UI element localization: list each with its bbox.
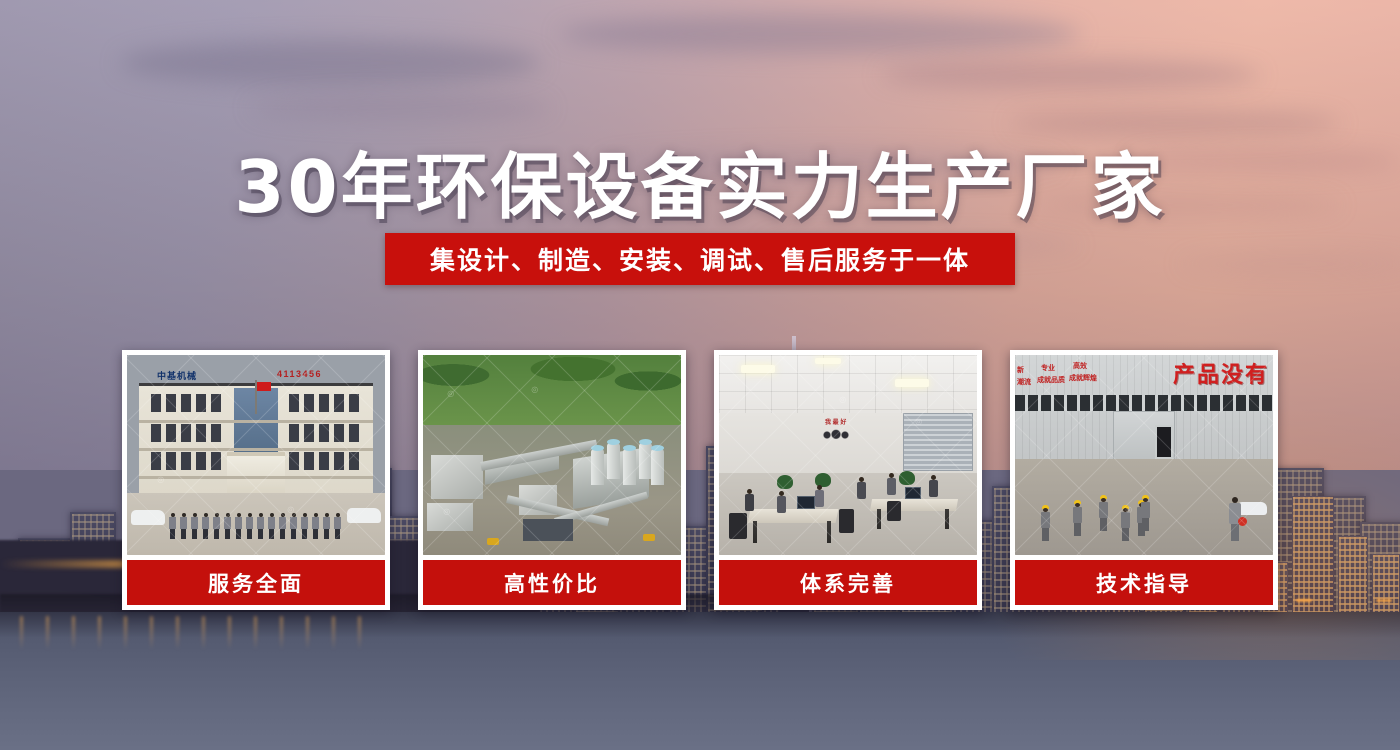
staff-member <box>246 513 253 539</box>
wall-decal-text: 我 最 好 <box>825 417 846 426</box>
building-window <box>319 452 329 470</box>
supervisor <box>1229 497 1241 541</box>
building-entrance <box>227 452 285 496</box>
ceiling-light <box>741 365 775 373</box>
office-employee <box>745 489 754 511</box>
card-photo-worker-briefing: 产品没有 新专业高效潮流成就品质成就辉煌 ◎ <box>1015 355 1273 555</box>
building-window <box>319 424 329 442</box>
building-window <box>289 394 299 412</box>
factory-worker <box>1099 495 1108 531</box>
building-window <box>151 394 161 412</box>
office-employee <box>887 473 896 495</box>
building-window <box>349 394 359 412</box>
factory-sign-small: 潮流 <box>1017 377 1031 387</box>
feature-card[interactable]: 产品没有 新专业高效潮流成就品质成就辉煌 ◎ 技术指导 <box>1010 350 1278 610</box>
shed <box>523 519 573 541</box>
building-window <box>196 394 206 412</box>
monitor <box>905 487 921 499</box>
feature-card-list: 中基机械 4113456 ◎ ◎ 服务全面 ◎ ◎ ◎ <box>122 350 1278 610</box>
card-photo-headquarters: 中基机械 4113456 ◎ ◎ <box>127 355 385 555</box>
building-window <box>151 424 161 442</box>
factory-sign-small: 高效 <box>1073 361 1087 371</box>
silo <box>623 449 636 485</box>
building-window <box>181 394 191 412</box>
building-window <box>211 452 221 470</box>
staff-member <box>202 513 209 539</box>
staff-member <box>290 513 297 539</box>
parked-car <box>347 508 381 523</box>
card-caption: 技术指导 <box>1015 560 1273 605</box>
factory-worker <box>1041 505 1050 541</box>
building-window <box>334 452 344 470</box>
factory-strip-windows <box>1015 395 1273 411</box>
building-window <box>304 452 314 470</box>
building-window <box>319 394 329 412</box>
feature-card[interactable]: 中基机械 4113456 ◎ ◎ 服务全面 <box>122 350 390 610</box>
feature-card[interactable]: 我 最 好 ◎ ◎ 体系完善 <box>714 350 982 610</box>
staff-member <box>180 513 187 539</box>
factory-sign-small: 专业 <box>1041 363 1055 373</box>
staff-member <box>323 513 330 539</box>
factory-sign-small: 新 <box>1017 365 1024 375</box>
building-window <box>151 452 161 470</box>
desk-leg <box>945 509 949 529</box>
building-window <box>181 452 191 470</box>
staff-member <box>312 513 319 539</box>
green-fields <box>423 355 681 433</box>
staff-member <box>257 513 264 539</box>
plant-building <box>431 455 483 499</box>
staff-member <box>235 513 242 539</box>
floor-divider <box>139 448 373 451</box>
desk-leg <box>877 509 881 529</box>
staff-member <box>279 513 286 539</box>
window-blinds <box>903 413 973 471</box>
office-ceiling <box>719 355 977 413</box>
excavator <box>643 534 655 541</box>
plant-building <box>427 503 473 531</box>
subtitle-text: 集设计、制造、安装、调试、售后服务于一体 <box>430 241 970 277</box>
front-plaza <box>127 493 385 555</box>
factory-worker <box>1141 495 1150 531</box>
silo <box>651 449 664 485</box>
monitor <box>797 496 815 509</box>
factory-sign-small: 成就品质 <box>1037 375 1065 385</box>
feature-card[interactable]: ◎ ◎ ◎ 高性价比 <box>418 350 686 610</box>
card-photo-plant-aerial: ◎ ◎ ◎ <box>423 355 681 555</box>
silo <box>591 449 604 485</box>
office-chair <box>887 501 901 521</box>
office-employee <box>929 475 938 497</box>
building-window <box>349 424 359 442</box>
building-window <box>289 452 299 470</box>
office-employee <box>815 485 824 507</box>
building-window <box>166 394 176 412</box>
office-employee <box>777 491 786 513</box>
building-window <box>166 452 176 470</box>
desk-leg <box>753 521 757 543</box>
desk-surface <box>748 509 839 523</box>
building-window <box>211 394 221 412</box>
staff-member <box>334 513 341 539</box>
office-chair <box>839 509 854 533</box>
office-plant <box>777 475 793 489</box>
building-window <box>289 424 299 442</box>
factory-worker <box>1073 500 1082 536</box>
factory-door <box>1155 425 1173 459</box>
staff-member <box>224 513 231 539</box>
staff-member <box>169 513 176 539</box>
building-window <box>196 452 206 470</box>
floor-divider <box>139 420 373 423</box>
building-window <box>304 424 314 442</box>
building-window <box>349 452 359 470</box>
ceiling-light <box>815 358 841 364</box>
building-window <box>196 424 206 442</box>
staff-member <box>268 513 275 539</box>
building-window <box>181 424 191 442</box>
building-sign: 中基机械 <box>157 369 197 382</box>
card-caption: 体系完善 <box>719 560 977 605</box>
silo <box>607 443 620 479</box>
office-building <box>139 383 373 495</box>
wall-decal: 我 最 好 <box>817 417 855 447</box>
staff-member <box>191 513 198 539</box>
parked-car <box>131 510 165 525</box>
building-window <box>211 424 221 442</box>
card-caption: 服务全面 <box>127 560 385 605</box>
floor-divider <box>139 476 373 479</box>
building-window <box>166 424 176 442</box>
building-window <box>334 394 344 412</box>
card-caption: 高性价比 <box>423 560 681 605</box>
staff-member <box>301 513 308 539</box>
wall-decal-figures <box>821 428 851 442</box>
excavator <box>487 538 499 545</box>
building-window <box>304 394 314 412</box>
staff-member <box>213 513 220 539</box>
desk-leg <box>827 521 831 543</box>
subtitle-banner: 集设计、制造、安装、调试、售后服务于一体 <box>385 233 1015 285</box>
building-phone: 4113456 <box>277 369 322 379</box>
flag <box>257 382 271 391</box>
ceiling-light <box>895 379 929 387</box>
office-chair <box>729 513 747 539</box>
banner-content: 30年环保设备实力生产厂家 集设计、制造、安装、调试、售后服务于一体 中基机械 … <box>0 0 1400 750</box>
office-employee <box>857 477 866 499</box>
parked-car <box>1237 502 1267 515</box>
card-photo-office-interior: 我 最 好 ◎ ◎ <box>719 355 977 555</box>
office-plant <box>899 471 915 485</box>
building-window <box>334 424 344 442</box>
factory-sign-main: 产品没有 <box>1173 357 1269 389</box>
factory-sign-small: 成就辉煌 <box>1069 373 1097 383</box>
page-title: 30年环保设备实力生产厂家 <box>0 128 1400 233</box>
red-helmet <box>1238 517 1247 526</box>
